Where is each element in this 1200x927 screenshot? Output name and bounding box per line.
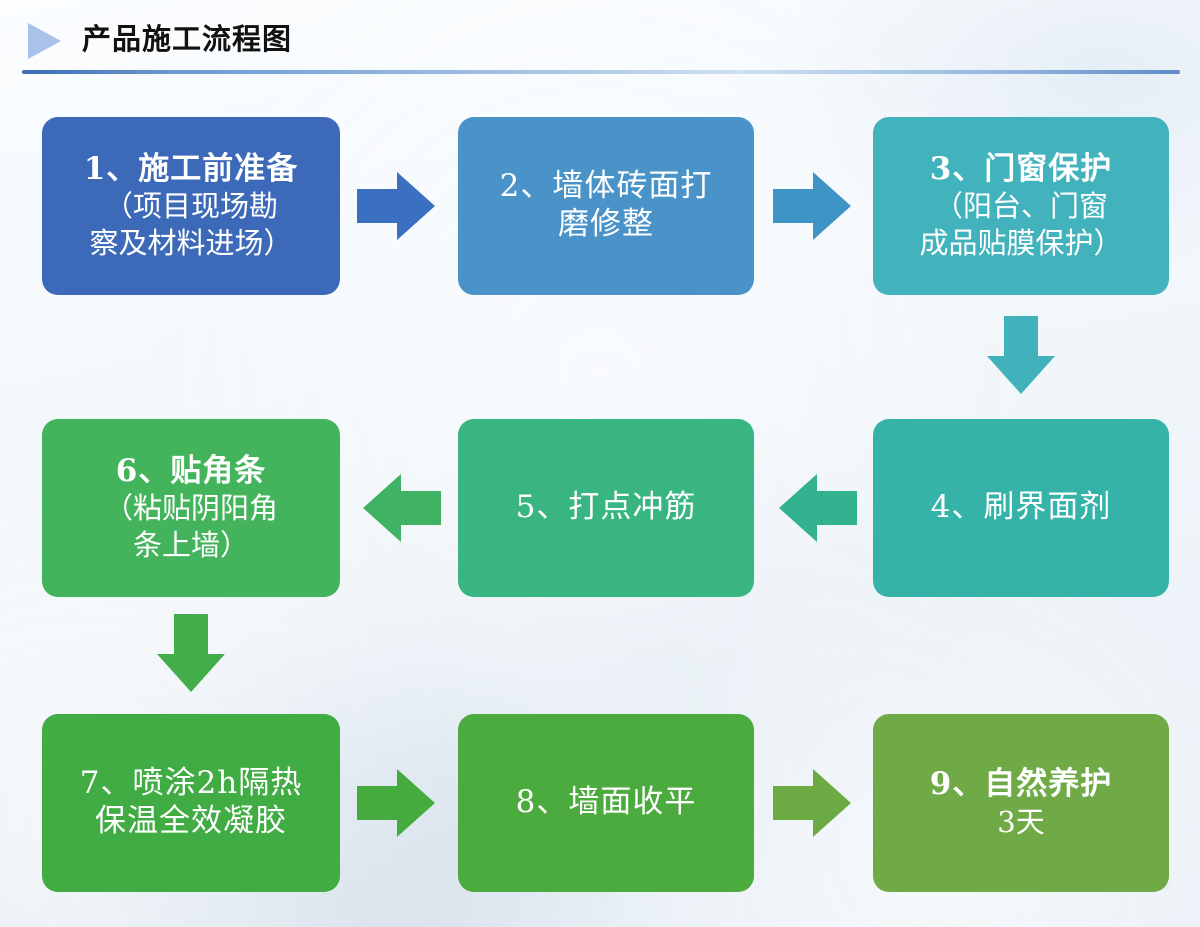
- flow-box-step-6[interactable]: 6、贴角条（粘贴阴阳角 条上墙）: [42, 419, 340, 597]
- arrow-head: [397, 172, 435, 240]
- flow-box-title: 9、自然养护: [930, 766, 1113, 804]
- flow-box-step-2[interactable]: 2、墙体砖面打 磨修整: [458, 117, 754, 295]
- flow-box-step-3[interactable]: 3、门窗保护（阳台、门窗 成品贴膜保护）: [873, 117, 1169, 295]
- flow-box-title: 7、喷涂2h隔热 保温全效凝胶: [80, 765, 302, 841]
- flow-box-title: 8、墙面收平: [516, 784, 697, 822]
- arrow-shaft: [811, 491, 857, 525]
- arrow-5-to-6-icon: [357, 474, 441, 542]
- triangle-marker-icon: [28, 23, 61, 59]
- arrow-head: [779, 474, 817, 542]
- flow-box-title: 2、墙体砖面打 磨修整: [500, 168, 713, 244]
- arrow-6-to-7-icon: [157, 614, 225, 698]
- arrow-8-to-9-icon: [773, 769, 857, 837]
- flowchart-slide: 产品施工流程图 1、施工前准备（项目现场勘 察及材料进场）2、墙体砖面打 磨修整…: [0, 0, 1200, 927]
- flow-box-title: 6、贴角条: [116, 453, 267, 491]
- flow-box-step-5[interactable]: 5、打点冲筋: [458, 419, 754, 597]
- slide-header: 产品施工流程图: [0, 0, 1200, 80]
- arrow-head: [813, 769, 851, 837]
- flow-box-title: 5、打点冲筋: [516, 489, 697, 527]
- flow-box-step-4[interactable]: 4、刷界面剂: [873, 419, 1169, 597]
- flow-box-step-7[interactable]: 7、喷涂2h隔热 保温全效凝胶: [42, 714, 340, 892]
- arrow-shaft: [395, 491, 441, 525]
- flow-box-title: 3、门窗保护: [930, 151, 1113, 189]
- flow-box-title: 4、刷界面剂: [931, 489, 1112, 527]
- arrow-head: [813, 172, 851, 240]
- flow-box-subtitle: （项目现场勘 察及材料进场）: [89, 188, 292, 261]
- arrow-1-to-2-icon: [357, 172, 441, 240]
- arrow-head: [397, 769, 435, 837]
- flow-box-step-8[interactable]: 8、墙面收平: [458, 714, 754, 892]
- flow-box-subtitle: （粘贴阴阳角 条上墙）: [104, 490, 278, 563]
- flow-box-title: 1、施工前准备: [84, 151, 299, 189]
- arrow-4-to-5-icon: [773, 474, 857, 542]
- arrow-7-to-8-icon: [357, 769, 441, 837]
- arrow-3-to-4-icon: [987, 316, 1055, 400]
- arrow-head: [363, 474, 401, 542]
- page-title: 产品施工流程图: [82, 19, 292, 59]
- arrow-head: [157, 654, 225, 692]
- flow-box-subtitle: 3天: [997, 804, 1044, 841]
- flow-box-step-1[interactable]: 1、施工前准备（项目现场勘 察及材料进场）: [42, 117, 340, 295]
- arrow-head: [987, 356, 1055, 394]
- header-divider: [22, 70, 1180, 74]
- flow-box-subtitle: （阳台、门窗 成品贴膜保护）: [919, 188, 1122, 261]
- arrow-2-to-3-icon: [773, 172, 857, 240]
- flow-box-step-9[interactable]: 9、自然养护3天: [873, 714, 1169, 892]
